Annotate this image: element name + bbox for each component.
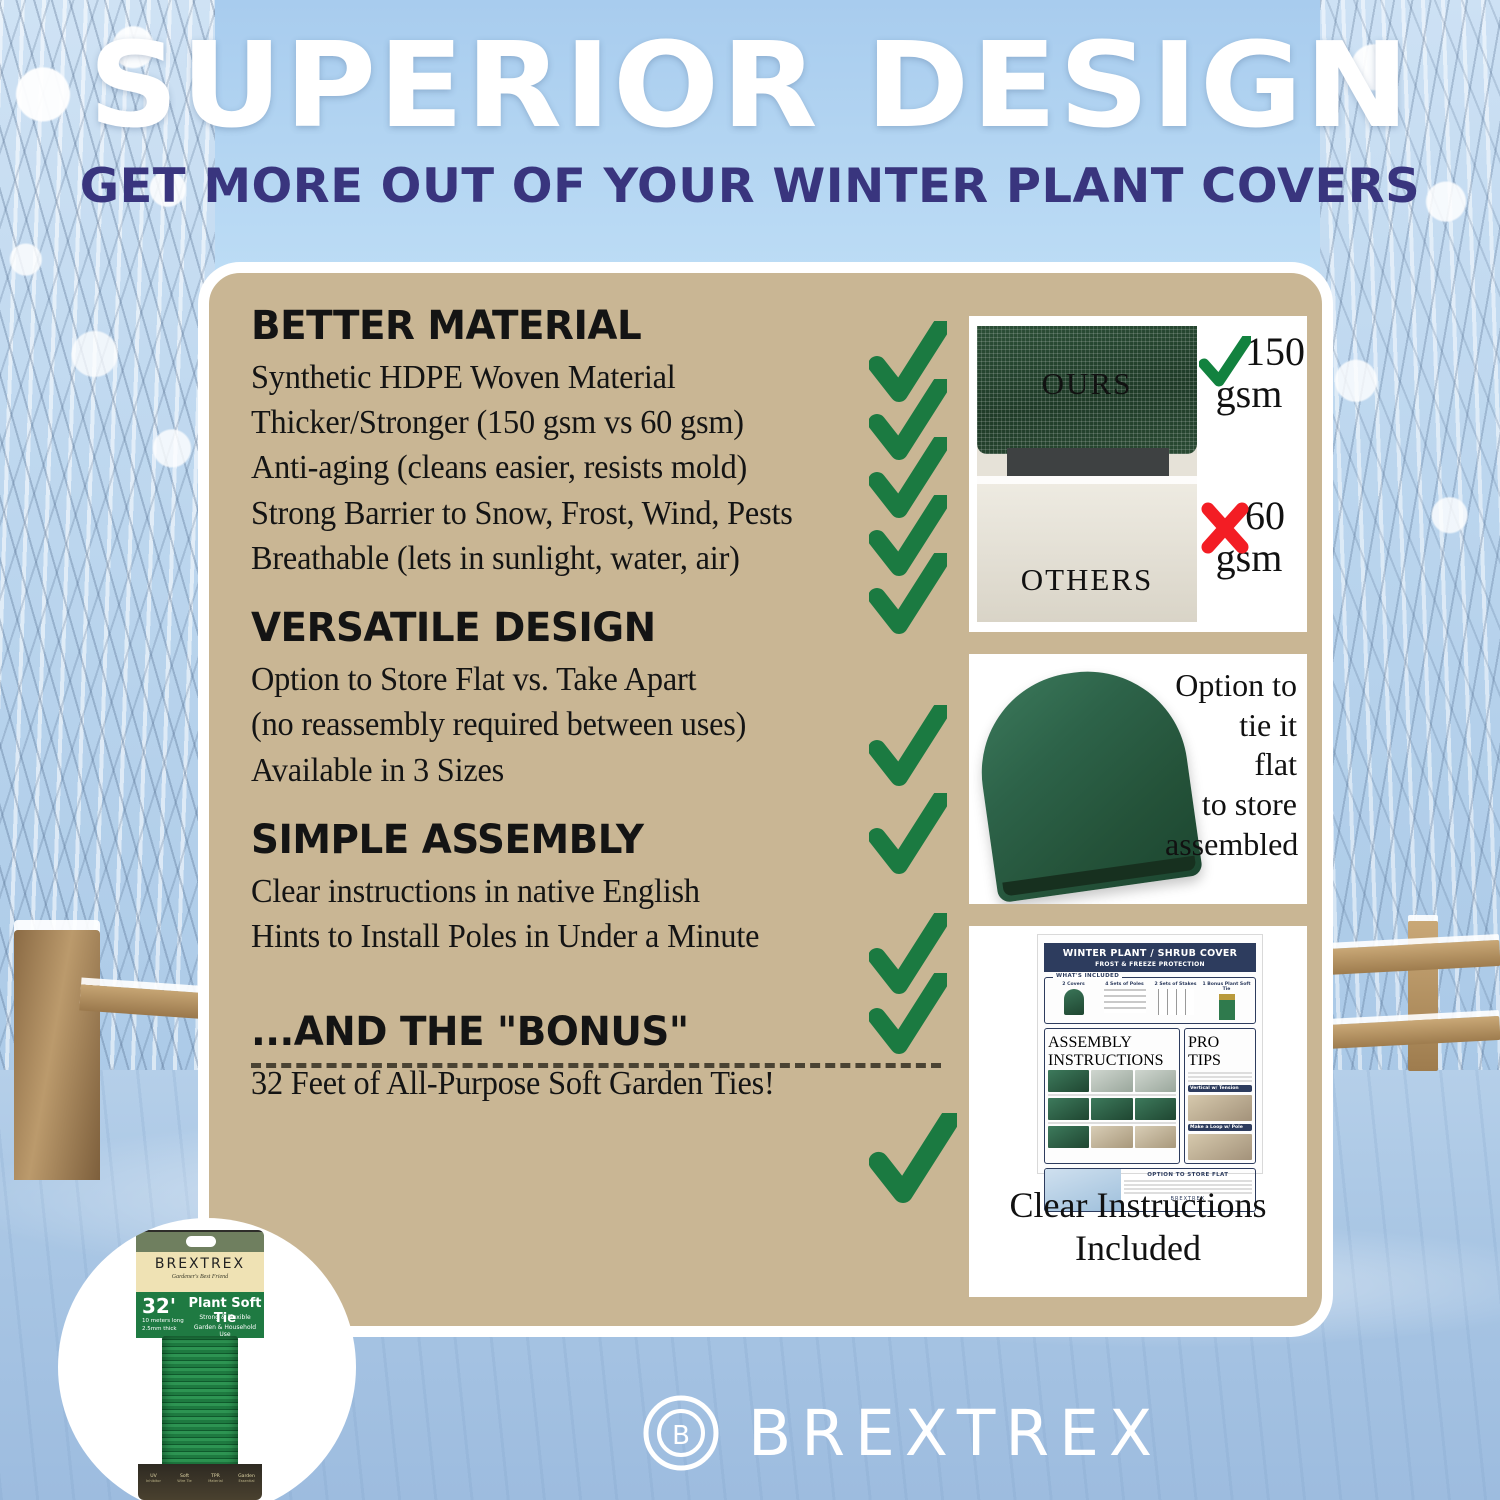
package-length-meta: 10 meters long [142,1318,184,1324]
package-badges: UV Inhibitor Soft Wire Tie TPR Material … [138,1464,262,1500]
badge-sub: Wire Tie [169,1479,200,1483]
instruction-sheet-photo: WINTER PLANT / SHRUB COVER FROST & FREEZ… [1037,934,1263,1174]
features-panel: BETTER MATERIAL Synthetic HDPE Woven Mat… [198,262,1333,1337]
store-flat-caption: Option to tie it flat to store assembled [1165,666,1305,864]
package-length: 32' [142,1294,188,1318]
stakes-icon [1158,989,1194,1015]
sheet-title: WINTER PLANT / SHRUB COVER [1046,948,1254,959]
brextrex-logo-icon: B [640,1392,722,1474]
feature-line: (no reassembly required between uses) [251,702,840,747]
package-feature: Strong & Flexible [188,1314,262,1321]
sheet-protips-section: PRO TIPS Vertical w/ Tension Make a Loop… [1184,1028,1256,1164]
feature-line: Hints to Install Poles in Under a Minute [251,914,840,959]
soft-tie-icon [1219,994,1235,1020]
package-tagline: Gardener's Best Friend [136,1274,264,1280]
package-header-card: BREXTREX Gardener's Best Friend 32' 10 m… [136,1230,264,1338]
section-heading-simple-assembly: SIMPLE ASSEMBLY [251,819,852,861]
feature-line: Strong Barrier to Snow, Frost, Wind, Pes… [251,491,840,536]
others-white-fabric [977,476,1197,622]
feature-line: Available in 3 Sizes [251,748,840,793]
fabric-comparison-photo: OURS OTHERS [977,326,1197,622]
green-tie-coil [162,1336,238,1468]
feature-line: Clear instructions in native English [251,869,840,914]
included-item-label: 1 Bonus Plant Soft Tie [1201,982,1252,992]
caption-line: to store [1165,785,1297,825]
card-instructions: WINTER PLANT / SHRUB COVER FROST & FREEZ… [969,926,1307,1297]
section-heading-bonus: ...AND THE "BONUS" [251,1011,852,1053]
sheet-included-title: WHAT'S INCLUDED [1053,973,1122,979]
section-heading-better-material: BETTER MATERIAL [251,305,852,347]
poles-icon [1104,989,1146,1013]
sheet-assembly-title: ASSEMBLY INSTRUCTIONS [1048,1034,1176,1070]
caption-line: tie it [1165,706,1297,746]
product-inset-circle: BREXTREX Gardener's Best Friend 32' 10 m… [58,1218,356,1500]
caption-line: Clear Instructions [969,1184,1307,1227]
feature-line: Breathable (lets in sunlight, water, air… [251,536,840,581]
badge-sub: Inhibitor [138,1479,169,1483]
check-icon [869,1113,957,1213]
header-banner: SUPERIOR DESIGN GET MORE OUT OF YOUR WIN… [0,0,1500,240]
package-product-name: Plant Soft Tie [188,1296,262,1326]
check-icon [869,793,947,883]
section-heading-versatile-design: VERSATILE DESIGN [251,607,852,649]
page-subtitle: GET MORE OUT OF YOUR WINTER PLANT COVERS [0,163,1500,210]
caption-line: assembled [1165,825,1297,865]
badge-sub: Essential [231,1479,262,1483]
card-store-flat: Option to tie it flat to store assembled [969,654,1307,904]
soft-tie-package: BREXTREX Gardener's Best Friend 32' 10 m… [136,1230,264,1500]
brand-footer: B BREXTREX [640,1378,1340,1488]
hang-hole [186,1236,216,1247]
feature-line: Option to Store Flat vs. Take Apart [251,657,840,702]
cross-icon [1199,500,1251,556]
feature-line: Anti-aging (cleans easier, resists mold) [251,445,840,490]
sheet-protips-title: PRO TIPS [1188,1034,1252,1070]
check-icon [1199,336,1251,392]
check-icon [869,553,947,643]
package-brand: BREXTREX [136,1256,264,1272]
brand-name: BREXTREX [748,1402,1162,1465]
sheet-header: WINTER PLANT / SHRUB COVER FROST & FREEZ… [1044,943,1256,972]
check-icon [869,705,947,795]
protip-label: Vertical w/ Tension [1188,1085,1252,1092]
card-material-comparison: OURS OTHERS 150 gsm 60 gsm [969,316,1307,632]
included-item-label: 4 Sets of Poles [1099,982,1150,987]
caption-line: flat [1165,745,1297,785]
page-title: SUPERIOR DESIGN [0,26,1500,144]
others-label: OTHERS [977,562,1197,598]
dashed-divider [251,1063,941,1068]
fence-post-left [14,930,100,1180]
caption-line: Option to [1165,666,1297,706]
feature-line: Synthetic HDPE Woven Material [251,355,840,400]
cover-icon [1064,989,1084,1015]
sheet-assembly-section: ASSEMBLY INSTRUCTIONS [1044,1028,1180,1164]
package-thickness-meta: 2.5mm thick [142,1326,177,1332]
badge-sub: Material [200,1479,231,1483]
included-item-label: 2 Sets of Stakes [1150,982,1201,987]
feature-line: Thicker/Stronger (150 gsm vs 60 gsm) [251,400,840,445]
gsm-legend: 150 gsm 60 gsm [1199,326,1299,622]
check-icon [869,973,947,1063]
features-text-column: BETTER MATERIAL Synthetic HDPE Woven Mat… [251,305,871,1106]
sheet-whats-included: WHAT'S INCLUDED 2 Covers 4 Sets of Poles… [1044,977,1256,1024]
caption-line: Included [969,1227,1307,1270]
included-item-label: 2 Covers [1048,982,1099,987]
ours-label: OURS [977,366,1197,402]
sheet-footer-title: OPTION TO STORE FLAT [1124,1172,1252,1178]
instructions-caption: Clear Instructions Included [969,1184,1307,1270]
protip-label: Make a Loop w/ Pole [1188,1124,1252,1131]
svg-text:B: B [672,1421,690,1451]
sheet-subtitle: FROST & FREEZE PROTECTION [1046,961,1254,968]
